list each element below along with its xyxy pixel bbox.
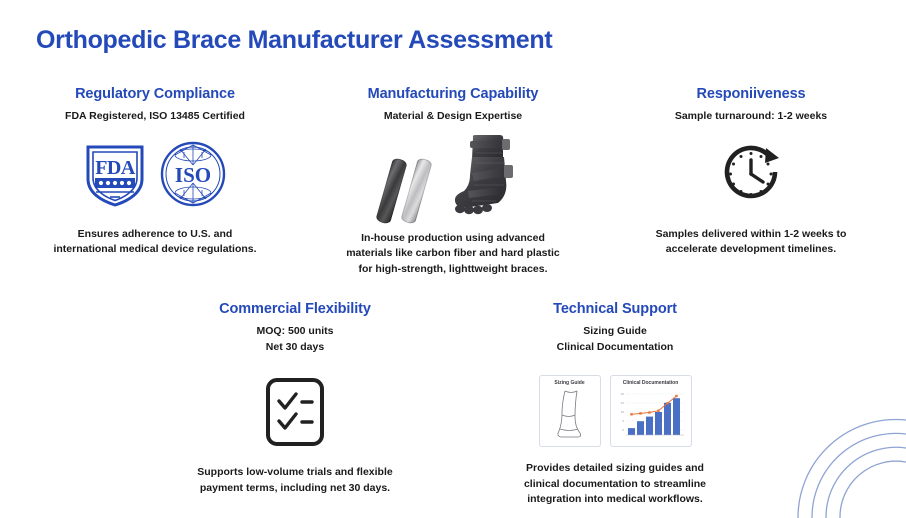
card-title-commercial-flexibility: Commercial Flexibility <box>219 301 371 318</box>
clock-arrow-icon <box>718 141 784 212</box>
page-title: Orthopedic Brace Manufacturer Assessment <box>36 26 552 55</box>
bottom-card-row: Commercial Flexibility MOQ: 500 units Ne… <box>150 301 760 508</box>
card-subtitle-regulatory-compliance: FDA Registered, ISO 13485 Certified <box>65 109 245 124</box>
iso-badge-icon: ISO <box>160 141 226 212</box>
clinical-documentation-chart-icon: Clinical Documentation <box>610 375 692 447</box>
decorative-corner-arcs <box>746 368 906 518</box>
card-commercial-flexibility: Commercial Flexibility MOQ: 500 units Ne… <box>150 301 440 508</box>
sizing-guide-doc-title: Sizing Guide <box>545 381 595 387</box>
sizing-guide-document-icon: Sizing Guide <box>539 375 601 447</box>
card-technical-support: Technical Support Sizing Guide Clinical … <box>470 301 760 508</box>
document-previews: Sizing Guide Clinical Document <box>539 375 692 447</box>
card-visual-regulatory-compliance: FDA <box>84 133 226 221</box>
fda-badge-icon: FDA <box>84 141 146 212</box>
card-description-regulatory-compliance: Ensures adherence to U.S. and internatio… <box>48 227 263 259</box>
ankle-brace-photo <box>448 133 522 224</box>
card-subtitle-responsiveness: Sample turnaround: 1-2 weeks <box>675 109 827 124</box>
clinical-documentation-label: Clinical Documentation <box>557 341 674 353</box>
card-visual-technical-support: Sizing Guide Clinical Document <box>539 367 692 455</box>
svg-text:10: 10 <box>620 410 624 414</box>
card-title-regulatory-compliance: Regulatory Compliance <box>75 86 235 103</box>
svg-text:FDA: FDA <box>95 157 136 179</box>
card-description-responsiveness: Samples delivered within 1-2 weeks to ac… <box>644 227 859 259</box>
card-title-manufacturing-capability: Manufacturing Capability <box>368 86 539 103</box>
card-responsiveness: Responiiveness Sample turnaround: 1-2 we… <box>606 86 896 278</box>
payment-terms-value: Net 30 days <box>266 341 324 353</box>
bar-line-chart: 20 15 10 5 0 <box>616 389 686 441</box>
material-sample-photos <box>384 133 522 224</box>
certification-badges: FDA <box>84 141 226 212</box>
card-subtitle-technical-support: Sizing Guide Clinical Documentation <box>557 324 674 354</box>
svg-text:ISO: ISO <box>175 163 211 187</box>
card-description-technical-support: Provides detailed sizing guides and clin… <box>508 461 723 508</box>
card-manufacturing-capability: Manufacturing Capability Material & Desi… <box>308 86 598 278</box>
card-title-responsiveness: Responiiveness <box>696 86 805 103</box>
card-visual-commercial-flexibility <box>265 371 325 459</box>
card-subtitle-manufacturing-capability: Material & Design Expertise <box>384 109 522 124</box>
leg-diagram <box>545 389 595 441</box>
moq-value: MOQ: 500 units <box>256 325 333 337</box>
svg-text:5: 5 <box>622 419 624 423</box>
checklist-icon <box>265 377 325 452</box>
card-visual-responsiveness <box>718 133 784 221</box>
card-description-commercial-flexibility: Supports low-volume trials and flexible … <box>188 465 403 497</box>
card-description-manufacturing-capability: In-house production using advanced mater… <box>346 231 561 278</box>
card-subtitle-commercial-flexibility: MOQ: 500 units Net 30 days <box>256 324 333 354</box>
slide-canvas: Orthopedic Brace Manufacturer Assessment… <box>0 0 906 518</box>
svg-text:0: 0 <box>622 428 624 432</box>
card-visual-manufacturing-capability <box>384 133 522 225</box>
clinical-doc-title: Clinical Documentation <box>616 381 686 387</box>
svg-text:20: 20 <box>620 392 624 396</box>
top-card-row: Regulatory Compliance FDA Registered, IS… <box>10 86 896 278</box>
card-regulatory-compliance: Regulatory Compliance FDA Registered, IS… <box>10 86 300 278</box>
svg-text:15: 15 <box>620 401 624 405</box>
card-title-technical-support: Technical Support <box>553 301 677 318</box>
sizing-guide-label: Sizing Guide <box>583 325 647 337</box>
